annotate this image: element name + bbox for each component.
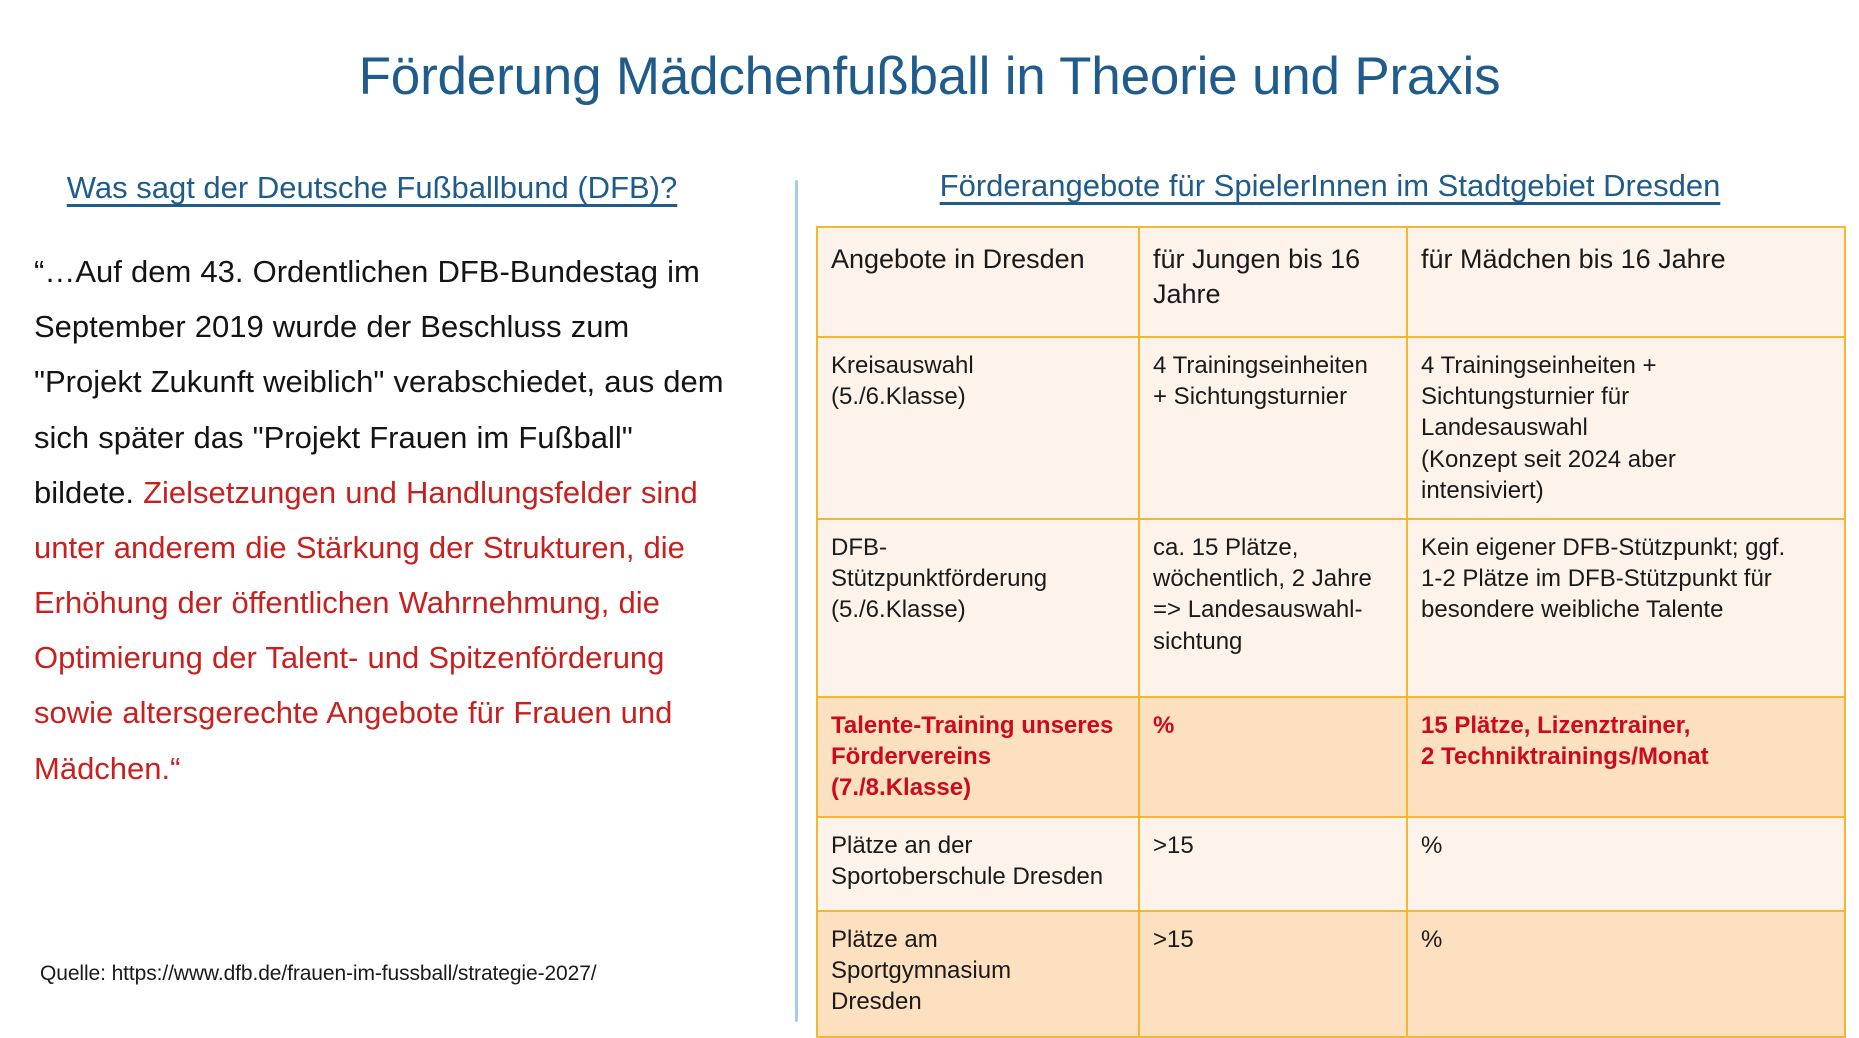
cell-offer-name: Talente-Training unseres Fördervereins (… [817, 697, 1139, 817]
cell-offer-name: DFB- Stützpunktförderung (5./6.Klasse) [817, 519, 1139, 697]
table-heading: Förderangebote für SpielerInnen im Stadt… [816, 168, 1844, 204]
slide-canvas: Förderung Mädchenfußball in Theorie und … [0, 0, 1859, 1038]
offers-table: Angebote in Dresden für Jungen bis 16 Ja… [816, 226, 1846, 1038]
table-row: DFB- Stützpunktförderung (5./6.Klasse) c… [817, 519, 1845, 697]
left-column: Was sagt der Deutsche Fußballbund (DFB)?… [34, 170, 750, 796]
right-column: Förderangebote für SpielerInnen im Stadt… [816, 168, 1844, 1038]
source-citation: Quelle: https://www.dfb.de/frauen-im-fus… [40, 962, 597, 986]
column-header-maedchen: für Mädchen bis 16 Jahre [1407, 227, 1845, 337]
cell-girls: % [1407, 911, 1845, 1037]
cell-boys: % [1139, 697, 1407, 817]
vertical-divider [795, 180, 798, 1022]
cell-boys: ca. 15 Plätze, wöchentlich, 2 Jahre => L… [1139, 519, 1407, 697]
cell-boys: >15 [1139, 817, 1407, 911]
cell-offer-name: Kreisauswahl (5./6.Klasse) [817, 337, 1139, 519]
cell-offer-name: Plätze an der Sportoberschule Dresden [817, 817, 1139, 911]
cell-girls: % [1407, 817, 1845, 911]
dfb-quote-red-part: Zielsetzungen und Handlungsfelder sind u… [34, 475, 698, 786]
cell-boys: >15 [1139, 911, 1407, 1037]
cell-girls: 15 Plätze, Lizenztrainer, 2 Techniktrain… [1407, 697, 1845, 817]
page-title: Förderung Mädchenfußball in Theorie und … [0, 48, 1859, 106]
column-header-angebote: Angebote in Dresden [817, 227, 1139, 337]
column-header-jungen: für Jungen bis 16 Jahre [1139, 227, 1407, 337]
cell-boys: 4 Trainingseinheiten + Sichtungsturnier [1139, 337, 1407, 519]
table-row: Plätze am Sportgymnasium Dresden >15 % [817, 911, 1845, 1037]
table-row: Plätze an der Sportoberschule Dresden >1… [817, 817, 1845, 911]
table-row-highlighted: Talente-Training unseres Fördervereins (… [817, 697, 1845, 817]
table-header-row: Angebote in Dresden für Jungen bis 16 Ja… [817, 227, 1845, 337]
dfb-quote: “…Auf dem 43. Ordentlichen DFB-Bundestag… [34, 244, 734, 796]
cell-girls: Kein eigener DFB-Stützpunkt; ggf. 1-2 Pl… [1407, 519, 1845, 697]
table-row: Kreisauswahl (5./6.Klasse) 4 Trainingsei… [817, 337, 1845, 519]
dfb-quote-black-part: “…Auf dem 43. Ordentlichen DFB-Bundestag… [34, 254, 724, 510]
left-column-heading: Was sagt der Deutsche Fußballbund (DFB)? [34, 170, 750, 206]
cell-girls: 4 Trainingseinheiten + Sichtungsturnier … [1407, 337, 1845, 519]
cell-offer-name: Plätze am Sportgymnasium Dresden [817, 911, 1139, 1037]
